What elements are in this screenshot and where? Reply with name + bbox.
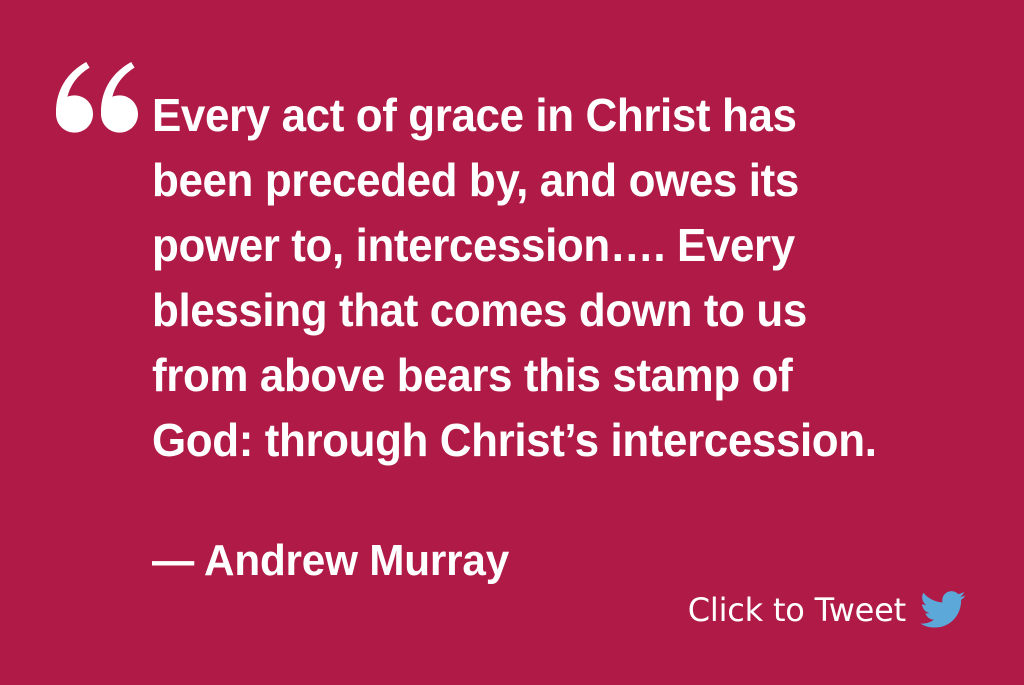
twitter-bird-icon[interactable] xyxy=(920,590,966,630)
quote-line: from above bears this stamp of xyxy=(152,343,916,408)
quote-line: God: through Christ’s intercession. xyxy=(152,408,916,473)
quote-line: blessing that comes down to us xyxy=(152,278,916,343)
open-quote-icon xyxy=(48,52,148,152)
click-to-tweet-label: Click to Tweet xyxy=(688,591,906,629)
quote-card: Every act of grace in Christ has been pr… xyxy=(0,0,1024,685)
quote-text: Every act of grace in Christ has been pr… xyxy=(152,83,952,473)
quote-line: Every act of grace in Christ has xyxy=(152,83,916,148)
quote-line: power to, intercession…. Every xyxy=(152,213,916,278)
click-to-tweet-button[interactable]: Click to Tweet xyxy=(688,590,966,630)
quote-line: been preceded by, and owes its xyxy=(152,148,916,213)
quote-attribution: — Andrew Murray xyxy=(152,531,509,591)
